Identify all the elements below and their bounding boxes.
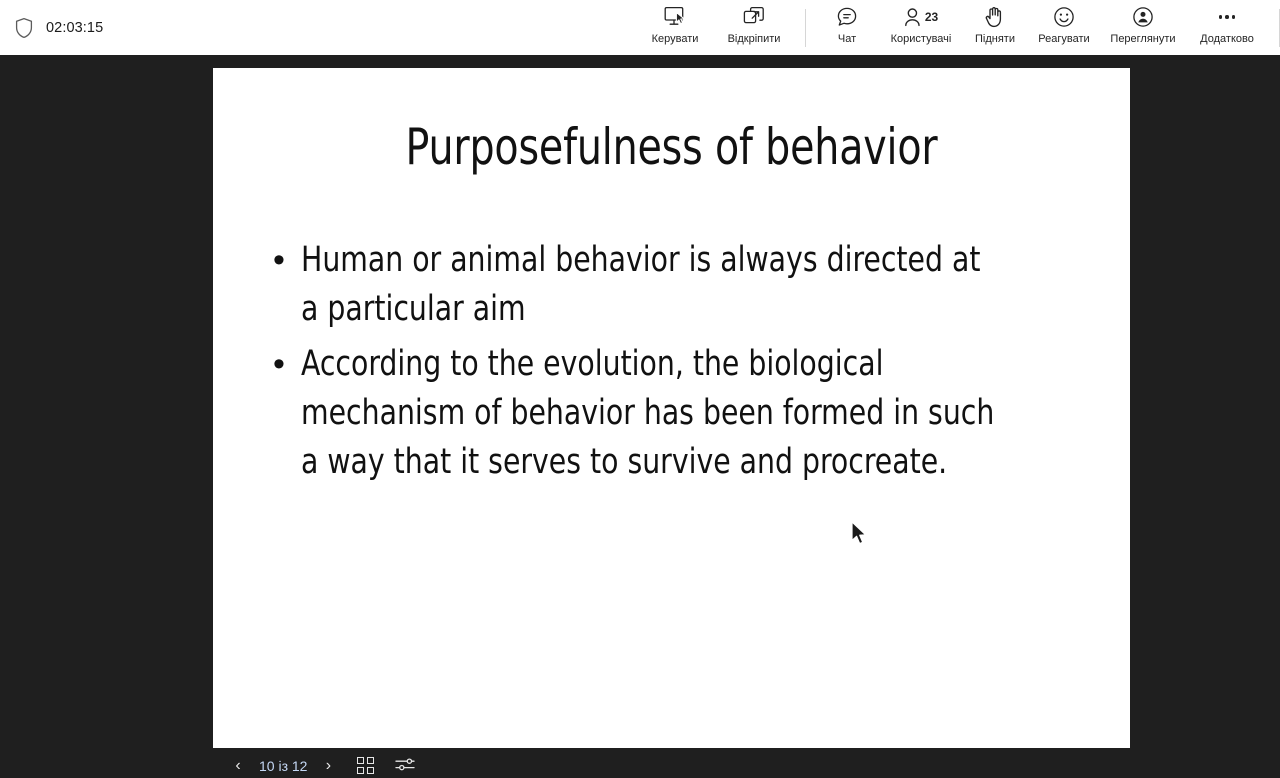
take-control-button[interactable]: Керувати [638,4,712,54]
participants-label: Користувачі [891,32,952,46]
presentation-stage: Purposefulness of behavior • Human or an… [0,55,1280,778]
slide-settings-button[interactable] [385,754,425,778]
slider-settings-icon [395,757,415,774]
ellipsis-icon [1219,4,1236,30]
grid-layout-icon [357,757,374,774]
slide-counter[interactable]: 10 із 12 [255,758,311,774]
slide-canvas[interactable]: Purposefulness of behavior • Human or an… [213,68,1130,748]
previous-slide-button[interactable]: ‹ [221,754,255,778]
person-view-icon [1132,4,1154,30]
meeting-topbar: 02:03:15 Керувати [0,0,1280,55]
take-control-label: Керувати [652,32,699,46]
bullet-marker-icon: • [265,340,301,389]
chat-button[interactable]: Чат [815,4,879,54]
slide-body: • Human or animal behavior is always dir… [265,236,1075,493]
people-icon: 23 [904,4,938,30]
slide-title: Purposefulness of behavior [268,121,1075,174]
unpin-label: Відкріпити [728,32,781,46]
raise-hand-button[interactable]: Підняти [963,4,1027,54]
more-options-button[interactable]: Додатково [1185,4,1269,54]
smiley-face-icon [1053,4,1075,30]
shield-icon [14,17,34,39]
chevron-right-icon: › [326,758,331,774]
chevron-left-icon: ‹ [235,758,240,774]
popout-window-icon [743,4,765,30]
chat-bubble-icon [836,4,858,30]
slide-bullet-item: • Human or animal behavior is always dir… [265,236,1075,334]
slide-grid-view-button[interactable] [345,754,385,778]
monitor-cursor-icon [664,4,687,30]
meeting-toolbar: Керувати Відкріпити [638,0,1280,55]
unpin-button[interactable]: Відкріпити [712,4,796,54]
slide-bullet-text: Human or animal behavior is always direc… [301,236,998,334]
view-button[interactable]: Переглянути [1101,4,1185,54]
reactions-button[interactable]: Реагувати [1027,4,1101,54]
participants-count: 23 [925,10,938,24]
meeting-timer: 02:03:15 [46,20,103,36]
next-slide-button[interactable]: › [311,754,345,778]
raise-hand-label: Підняти [975,32,1015,46]
view-label: Переглянути [1110,32,1175,46]
raise-hand-icon [985,4,1006,30]
toolbar-divider-1 [805,9,806,47]
participants-button[interactable]: 23 Користувачі [879,4,963,54]
slide-bullet-text: According to the evolution, the biologic… [301,340,998,487]
more-options-label: Додатково [1200,32,1254,46]
reactions-label: Реагувати [1038,32,1089,46]
topbar-left-group: 02:03:15 [0,17,103,39]
slide-bullet-item: • According to the evolution, the biolog… [265,340,1075,487]
chat-label: Чат [838,32,856,46]
bullet-marker-icon: • [265,236,301,285]
slide-navigation-bar: ‹ 10 із 12 › [213,753,1130,778]
